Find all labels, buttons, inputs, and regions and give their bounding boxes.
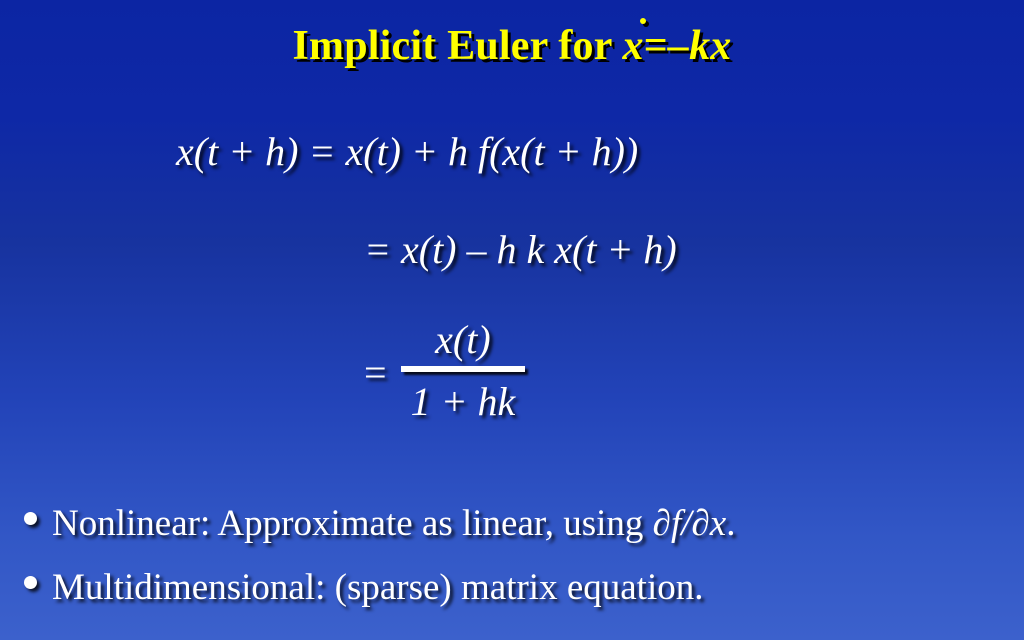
list-item: Nonlinear: Approximate as linear, using … (20, 500, 1010, 548)
slide-title: Implicit Euler for x=–kx (0, 22, 1024, 70)
bullet-1-lead: Nonlinear: Approximate as linear, using (52, 503, 653, 544)
x-dot-variable: x (623, 22, 644, 70)
equation-3-equals-sign: = (364, 349, 387, 396)
fraction-denominator: 1 + hk (401, 372, 526, 428)
equation-line-1: x(t + h) = x(t) + h f(x(t + h)) (176, 130, 638, 174)
bullet-dot-glyph (24, 576, 37, 589)
bullet-1-text: Nonlinear: Approximate as linear, using … (52, 500, 735, 548)
bullet-1-math: ∂f/∂x (653, 503, 727, 544)
bullet-1-trail: . (726, 503, 735, 544)
equation-line-2: = x(t) – h k x(t + h) (364, 228, 677, 272)
fraction: x(t) 1 + hk (401, 316, 526, 428)
list-item: Multidimensional: (sparse) matrix equati… (20, 564, 1010, 612)
x-dot-letter: x (623, 23, 644, 69)
title-rhs: –kx (668, 23, 732, 69)
slide-canvas: Implicit Euler for x=–kx x(t + h) = x(t)… (0, 0, 1024, 640)
bullet-2-lead: Multidimensional: (sparse) matrix equati… (52, 567, 703, 608)
fraction-numerator: x(t) (421, 316, 505, 366)
title-lead-text: Implicit Euler for (292, 23, 622, 69)
bullet-dot-glyph (24, 512, 37, 525)
bullet-list: Nonlinear: Approximate as linear, using … (20, 500, 1010, 628)
equation-line-3: = x(t) 1 + hk (364, 316, 525, 428)
title-equals-sign: = (644, 23, 668, 69)
bullet-2-text: Multidimensional: (sparse) matrix equati… (52, 564, 703, 612)
